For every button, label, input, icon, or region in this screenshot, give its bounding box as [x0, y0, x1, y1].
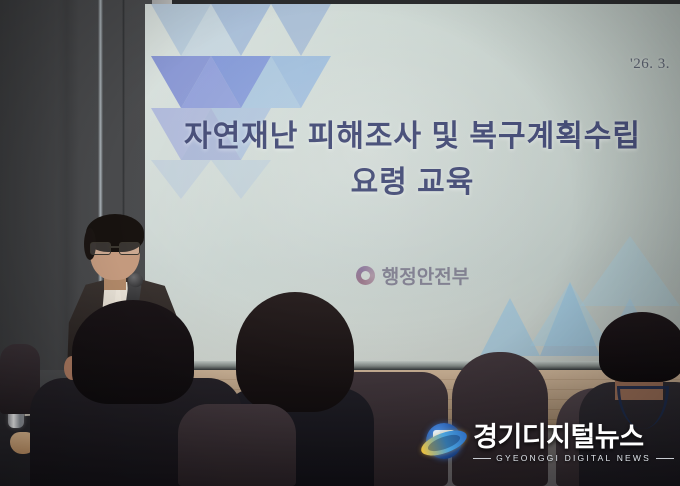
- watermark: 경기디지털뉴스 GYEONGGI DIGITAL NEWS: [421, 420, 674, 466]
- watermark-title: 경기디지털뉴스: [473, 424, 674, 451]
- watermark-text: 경기디지털뉴스 GYEONGGI DIGITAL NEWS: [473, 424, 674, 463]
- presentation-photo: '26. 3. 자연재난 피해조사 및 복구계획수립 요령 교육 행정안전부: [0, 0, 680, 486]
- watermark-subtitle: GYEONGGI DIGITAL NEWS: [473, 454, 674, 463]
- slide-title: 자연재난 피해조사 및 복구계획수립 요령 교육: [145, 114, 680, 206]
- chair: [178, 404, 296, 486]
- taegeuk-icon: [356, 266, 375, 285]
- organization-name: 행정안전부: [382, 262, 469, 289]
- watermark-subtitle-text: GYEONGGI DIGITAL NEWS: [496, 454, 651, 463]
- globe-logo: [421, 420, 467, 466]
- slide-date: '26. 3.: [630, 56, 670, 73]
- organization-logo: 행정안전부: [145, 262, 680, 289]
- slide-title-line2: 요령 교육: [145, 160, 680, 206]
- glasses-icon: [89, 242, 141, 253]
- slide-title-line1: 자연재난 피해조사 및 복구계획수립: [184, 120, 641, 153]
